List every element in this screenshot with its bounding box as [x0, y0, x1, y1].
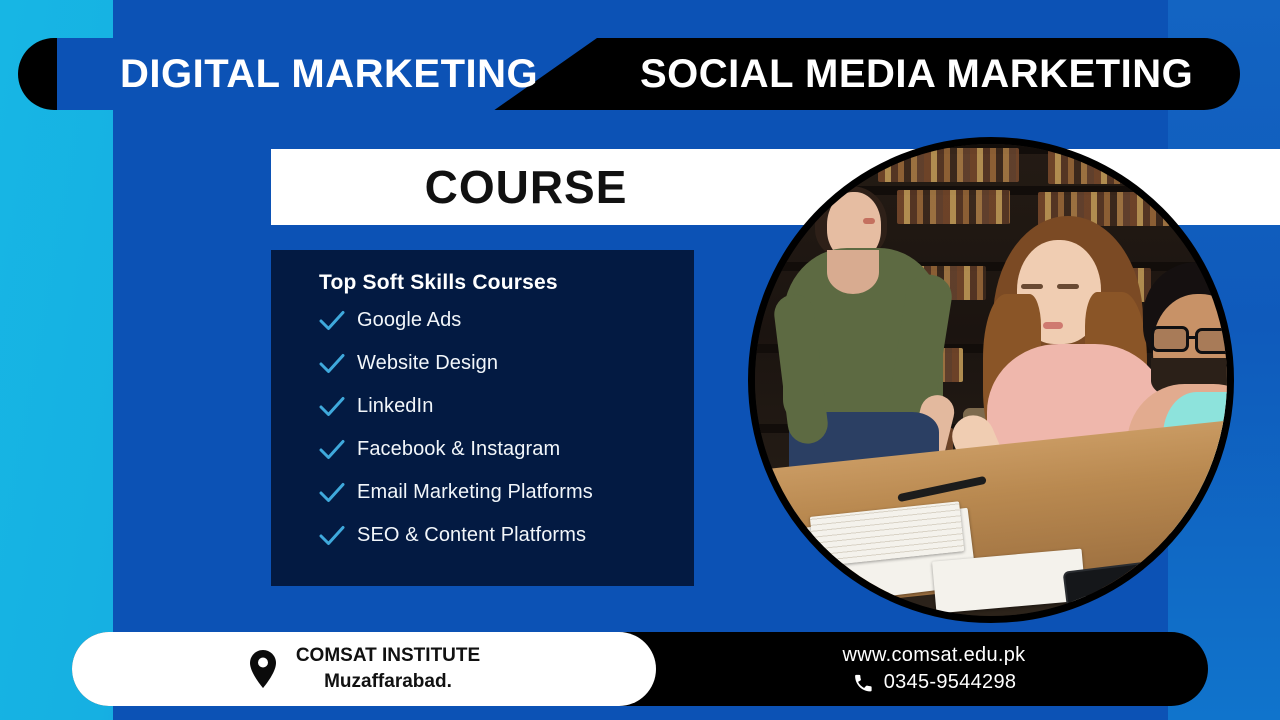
list-item: Website Design	[319, 352, 694, 375]
photo-scene	[755, 144, 1227, 616]
list-item-label: LinkedIn	[357, 395, 433, 418]
check-icon	[319, 353, 345, 375]
page-title: COURSE	[271, 149, 781, 225]
poster-canvas: DIGITAL MARKETING SOCIAL MEDIA MARKETING…	[0, 0, 1280, 720]
footer-institute-line2: Muzaffarabad.	[296, 669, 480, 695]
check-icon	[319, 310, 345, 332]
footer-phone-number[interactable]: 0345-9544298	[884, 671, 1017, 694]
check-icon	[319, 396, 345, 418]
check-icon	[319, 482, 345, 504]
list-item: Email Marketing Platforms	[319, 481, 694, 504]
header-label-digital-marketing: DIGITAL MARKETING	[120, 38, 538, 110]
list-item-label: Facebook & Instagram	[357, 438, 560, 461]
footer-institute-line1: COMSAT INSTITUTE	[296, 643, 480, 669]
phone-icon	[852, 672, 874, 694]
skills-panel-heading: Top Soft Skills Courses	[319, 271, 694, 295]
list-item-label: SEO & Content Platforms	[357, 524, 586, 547]
footer-phone-row: 0345-9544298	[852, 671, 1017, 694]
header-label-social-media-marketing: SOCIAL MEDIA MARKETING	[640, 38, 1193, 110]
list-item-label: Email Marketing Platforms	[357, 481, 593, 504]
check-icon	[319, 439, 345, 461]
list-item: SEO & Content Platforms	[319, 524, 694, 547]
check-icon	[319, 525, 345, 547]
footer-institute-text: COMSAT INSTITUTE Muzaffarabad.	[296, 643, 480, 694]
list-item-label: Website Design	[357, 352, 498, 375]
skills-panel: Top Soft Skills Courses Google Ads Websi…	[271, 250, 694, 586]
location-pin-icon	[248, 649, 278, 689]
footer-contact-block: www.comsat.edu.pk 0345-9544298	[660, 632, 1208, 706]
list-item: Google Ads	[319, 309, 694, 332]
students-photo	[748, 137, 1234, 623]
list-item: LinkedIn	[319, 395, 694, 418]
footer-website[interactable]: www.comsat.edu.pk	[843, 644, 1026, 667]
skills-list: Google Ads Website Design LinkedIn Faceb…	[319, 309, 694, 547]
list-item-label: Google Ads	[357, 309, 461, 332]
list-item: Facebook & Instagram	[319, 438, 694, 461]
footer-institute-block: COMSAT INSTITUTE Muzaffarabad.	[72, 632, 656, 706]
